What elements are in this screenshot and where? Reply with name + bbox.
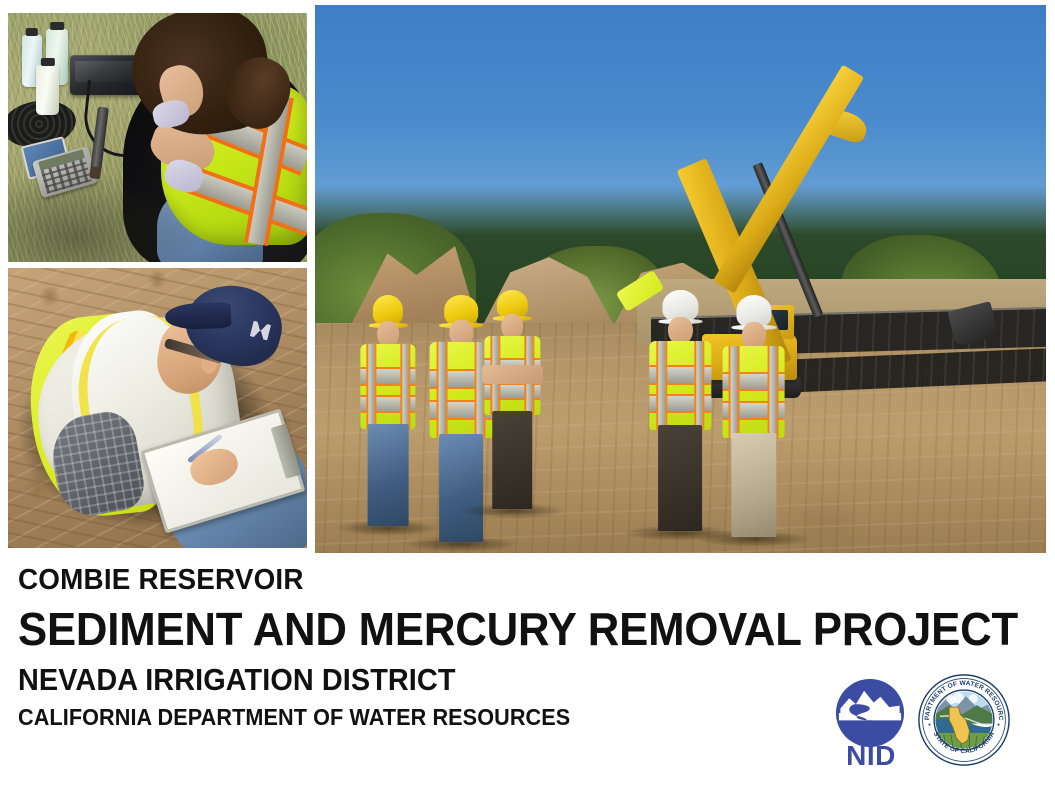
field-notes-photo: [8, 268, 307, 548]
worker-legs: [368, 424, 409, 525]
bottle-cap: [40, 58, 54, 66]
agency-name: NEVADA IRRIGATION DISTRICT: [18, 664, 762, 695]
worker-arm: [482, 365, 543, 385]
worker-legs: [493, 411, 532, 510]
vest-reflective-band: [769, 346, 776, 438]
title-block: COMBIE RESERVOIR SEDIMENT AND MERCURY RE…: [18, 566, 818, 729]
vest-reflective-band: [731, 346, 738, 438]
cap-logo: [250, 321, 271, 341]
site-worker: [479, 290, 545, 509]
worker-legs: [439, 434, 483, 543]
safety-vest: [650, 341, 711, 430]
department-name: CALIFORNIA DEPARTMENT OF WATER RESOURCES: [18, 706, 770, 729]
presentation-title-slide: COMBIE RESERVOIR SEDIMENT AND MERCURY RE…: [0, 0, 1055, 786]
safety-vest: [722, 346, 785, 438]
nid-mark-icon: [833, 676, 907, 750]
page-title: SEDIMENT AND MERCURY REMOVAL PROJECT: [18, 606, 778, 652]
bottle-cap: [50, 22, 64, 30]
eyebrow-text: COMBIE RESERVOIR: [18, 566, 786, 595]
vest-reflective-band: [402, 344, 408, 429]
worker-legs: [659, 425, 703, 531]
bottle-cap: [26, 28, 38, 36]
vest-reflective-band: [696, 341, 703, 430]
ground-shadow: [8, 170, 202, 262]
vest-reflective-band: [658, 341, 665, 430]
worker-legs: [731, 433, 776, 537]
water-quality-sampling-photo: [8, 13, 307, 262]
site-worker: [717, 295, 790, 536]
nid-logo-text: NID: [827, 742, 915, 770]
dwr-seal: DEPARTMENT OF WATER RESOURCES STATE OF C…: [918, 674, 1010, 766]
site-worker: [644, 290, 717, 531]
site-worker: [355, 295, 421, 525]
safety-vest: [360, 344, 415, 429]
nid-logo: NID: [827, 676, 915, 772]
vest-reflective-band: [368, 344, 374, 429]
sample-bottle: [36, 65, 59, 115]
construction-site-photo: [315, 5, 1046, 553]
cap-brim: [165, 302, 232, 330]
vest-reflective-band: [439, 342, 446, 438]
